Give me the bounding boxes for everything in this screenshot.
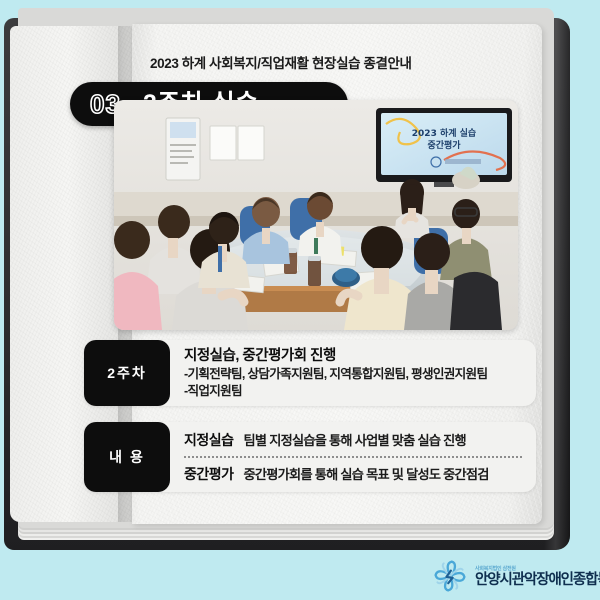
table-row: 내 용 지정실습 팀별 지정실습을 통해 사업별 맞춤 실습 진행 중간평가 중… xyxy=(84,422,536,492)
organization-name: 안양시관악장애인종합복지관 xyxy=(475,573,600,588)
definition-desc: 중간평가회를 통해 실습 목표 및 달성도 중간점검 xyxy=(244,464,489,483)
row-bullet: -기획전략팀, 상담가족지원팀, 지역통합지원팀, 평생인권지원팀 xyxy=(184,366,524,383)
definition-term: 중간평가 xyxy=(184,464,234,484)
table-row: 2주차 지정실습, 중간평가회 진행 -기획전략팀, 상담가족지원팀, 지역통합… xyxy=(84,340,536,406)
row-body: 지정실습 팀별 지정실습을 통해 사업별 맞춤 실습 진행 중간평가 중간평가회… xyxy=(170,422,536,492)
definition-term: 지정실습 xyxy=(184,430,234,450)
meeting-photo: 2023 하계 실습 중간평가 xyxy=(114,100,518,330)
meeting-photo-illustration: 2023 하계 실습 중간평가 xyxy=(114,100,518,330)
definition-item: 중간평가 중간평가회를 통해 실습 목표 및 달성도 중간점검 xyxy=(184,464,524,484)
definition-item: 지정실습 팀별 지정실습을 통해 사업별 맞춤 실습 진행 xyxy=(184,430,524,450)
svg-text:중간평가: 중간평가 xyxy=(427,139,461,151)
logo-tagline: 사회복지법인 삼전원 xyxy=(475,565,600,572)
row-bullet: -직업지원팀 xyxy=(184,383,524,400)
definition-desc: 팀별 지정실습을 통해 사업별 맞춤 실습 진행 xyxy=(244,430,466,449)
row-body: 지정실습, 중간평가회 진행 -기획전략팀, 상담가족지원팀, 지역통합지원팀,… xyxy=(170,340,536,406)
book-illustration: 2023 하계 사회복지/직업재활 현장실습 종결안내 03 2주차 실습 xyxy=(0,0,600,600)
row-tag: 2주차 xyxy=(84,340,170,406)
svg-text:2023 하계 실습: 2023 하계 실습 xyxy=(412,127,476,139)
flower-emblem-icon xyxy=(432,558,468,594)
page-content: 2023 하계 사회복지/직업재활 현장실습 종결안내 03 2주차 실습 xyxy=(132,24,542,524)
logo-text: 사회복지법인 삼전원 안양시관악장애인종합복지관 xyxy=(475,565,600,588)
footer-logo: 사회복지법인 삼전원 안양시관악장애인종합복지관 xyxy=(432,558,600,594)
page-kicker: 2023 하계 사회복지/직업재활 현장실습 종결안내 xyxy=(150,52,412,72)
row-headline: 지정실습, 중간평가회 진행 xyxy=(184,347,524,366)
divider xyxy=(184,456,522,458)
row-tag: 내 용 xyxy=(84,422,170,492)
